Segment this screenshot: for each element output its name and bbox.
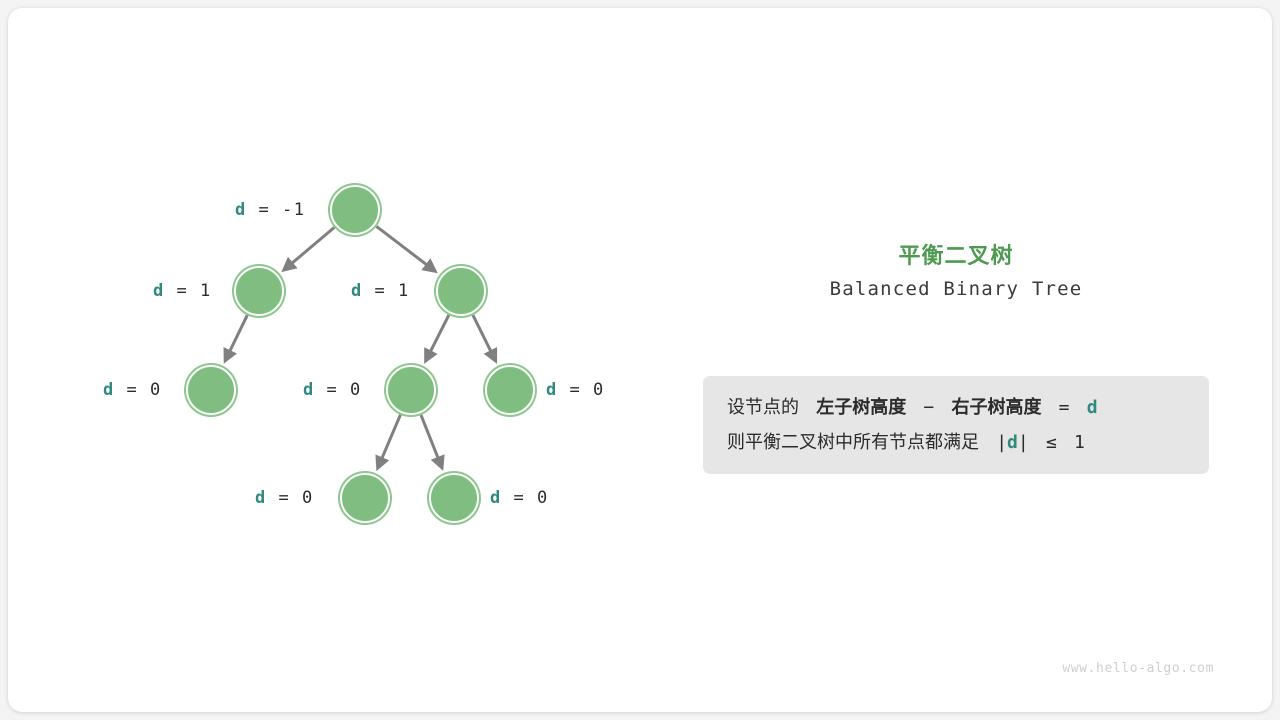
abs-bar-close: |: [1018, 432, 1029, 453]
right-subtree-height-term: 右子树高度: [951, 397, 1041, 418]
definition-line-1: 设节点的 左子树高度 − 右子树高度 = d: [727, 390, 1187, 425]
tree-node[interactable]: [340, 473, 390, 523]
node-d-variable: d: [255, 488, 267, 508]
node-d-variable: d: [303, 380, 315, 400]
less-equal-operator: ≤: [1046, 432, 1057, 453]
node-d-value: = -1: [247, 200, 306, 220]
left-subtree-height-term: 左子树高度: [816, 397, 906, 418]
node-d-value: = 0: [315, 380, 362, 400]
node-balance-label: d = 1: [153, 281, 212, 301]
tree-node[interactable]: [436, 266, 486, 316]
tree-node[interactable]: [485, 365, 535, 415]
balance-condition-prefix: 则平衡二叉树中所有节点都满足: [727, 432, 979, 453]
content-card: d = -1d = 1d = 1d = 0d = 0d = 0d = 0d = …: [8, 8, 1272, 712]
info-panel: 平衡二叉树 Balanced Binary Tree 设节点的 左子树高度 − …: [688, 16, 1280, 720]
node-d-variable: d: [235, 200, 247, 220]
equals-operator: =: [1059, 397, 1070, 418]
node-balance-label: d = 1: [351, 281, 410, 301]
tree-edge: [473, 315, 495, 359]
tree-edge: [285, 227, 334, 269]
balance-limit-value: 1: [1074, 432, 1085, 453]
node-d-value: = 1: [363, 281, 410, 301]
tree-node[interactable]: [429, 473, 479, 523]
node-d-value: = 0: [115, 380, 162, 400]
definition-prefix: 设节点的: [727, 397, 799, 418]
tree-node[interactable]: [330, 185, 380, 235]
tree-node[interactable]: [234, 266, 284, 316]
node-d-value: = 1: [165, 281, 212, 301]
illustration-canvas: d = -1d = 1d = 1d = 0d = 0d = 0d = 0d = …: [0, 0, 1280, 720]
minus-operator: −: [923, 397, 934, 418]
tree-edge: [376, 226, 434, 270]
node-balance-label: d = 0: [103, 380, 162, 400]
node-d-variable: d: [546, 380, 558, 400]
abs-bar-open: |: [996, 432, 1007, 453]
tree-edge: [226, 315, 247, 359]
definition-box: 设节点的 左子树高度 − 右子树高度 = d 则平衡二叉树中所有节点都满足 |d: [703, 376, 1209, 474]
node-d-variable: d: [490, 488, 502, 508]
tree-node[interactable]: [386, 365, 436, 415]
node-balance-label: d = 0: [303, 380, 362, 400]
node-balance-label: d = -1: [235, 200, 305, 220]
panel-title: 平衡二叉树: [688, 238, 1224, 270]
definition-line-2: 则平衡二叉树中所有节点都满足 |d| ≤ 1: [727, 425, 1187, 460]
tree-edge: [421, 415, 441, 466]
node-d-variable: d: [351, 281, 363, 301]
d-variable-abs: d: [1007, 432, 1018, 453]
tree-node[interactable]: [186, 365, 236, 415]
binary-tree-diagram: d = -1d = 1d = 1d = 0d = 0d = 0d = 0d = …: [8, 8, 688, 712]
node-d-value: = 0: [267, 488, 314, 508]
node-balance-label: d = 0: [255, 488, 314, 508]
tree-edge: [426, 315, 449, 360]
node-balance-label: d = 0: [546, 380, 605, 400]
node-d-variable: d: [153, 281, 165, 301]
node-d-value: = 0: [558, 380, 605, 400]
node-balance-label: d = 0: [490, 488, 549, 508]
node-d-value: = 0: [502, 488, 549, 508]
d-variable: d: [1087, 397, 1098, 418]
node-d-variable: d: [103, 380, 115, 400]
tree-edge: [378, 415, 400, 467]
tree-edges: [8, 8, 688, 712]
site-watermark: www.hello-algo.com: [1062, 661, 1214, 676]
panel-subtitle: Balanced Binary Tree: [688, 278, 1224, 300]
